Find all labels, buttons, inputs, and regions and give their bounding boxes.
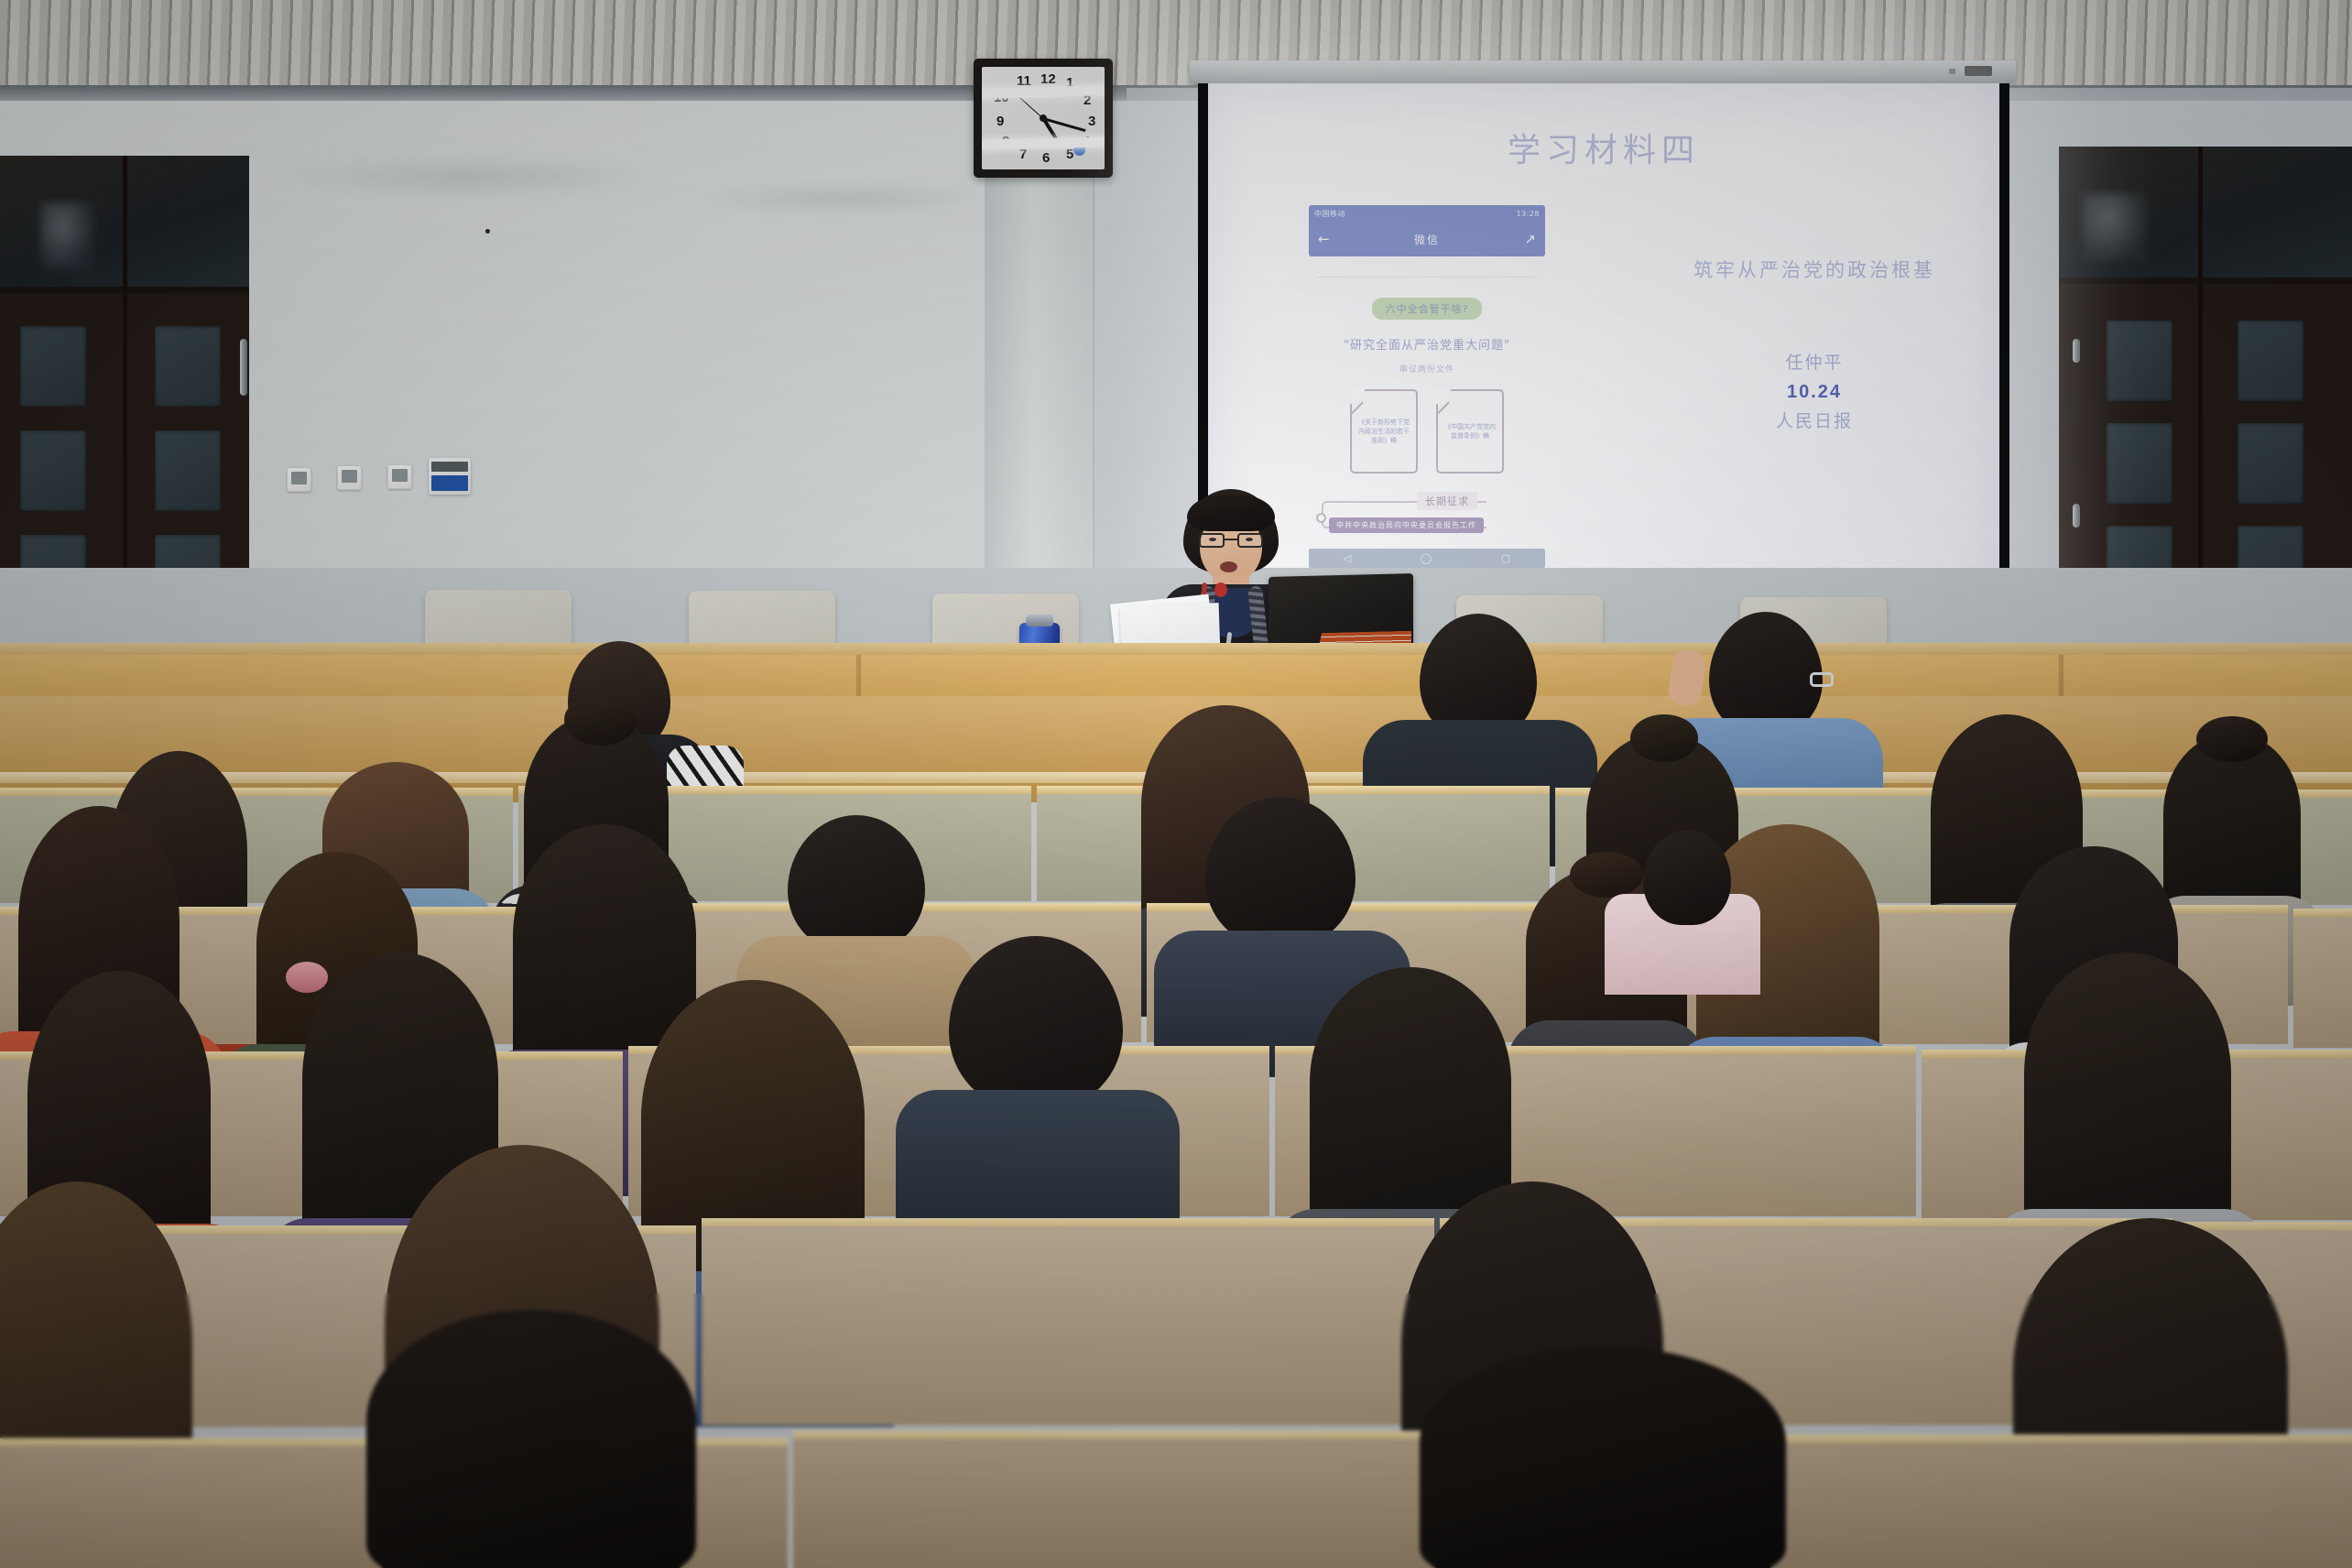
clock-numeral: 9 bbox=[996, 114, 1004, 128]
wall-smudge bbox=[696, 183, 998, 214]
door-glass-pane bbox=[155, 430, 221, 511]
phone-content: 六中全会管干啥? "研究全面从严治党重大问题" 审议两份文件 《关于新形势下党内… bbox=[1309, 277, 1545, 568]
door-glass-pane bbox=[20, 430, 86, 511]
light-switch[interactable] bbox=[337, 465, 362, 490]
hair bbox=[2024, 953, 2231, 1242]
slide-badge: 六中全会管干啥? bbox=[1372, 298, 1483, 320]
clock-face: 12 1 2 3 4 5 6 7 8 9 10 11 bbox=[982, 67, 1105, 169]
phone-clock-label: 13:28 bbox=[1516, 210, 1540, 218]
clock-numeral: 3 bbox=[1088, 114, 1095, 128]
clock-numeral: 7 bbox=[1019, 147, 1027, 161]
phone-nav-title: 微信 bbox=[1414, 232, 1440, 247]
hair bbox=[1420, 1346, 1786, 1568]
share-icon[interactable]: ↗ bbox=[1524, 231, 1536, 247]
wall-clock: 12 1 2 3 4 5 6 7 8 9 10 11 bbox=[974, 59, 1113, 178]
desk-back-panel bbox=[2293, 909, 2352, 1048]
slide-source: 人民日报 bbox=[1677, 408, 1952, 436]
screen-housing-button[interactable] bbox=[1965, 66, 1992, 76]
ac-control-panel[interactable] bbox=[429, 458, 471, 495]
door-hinge-plate bbox=[2073, 339, 2080, 363]
document-card: 《中国共产党党内监督条例》稿 bbox=[1436, 389, 1504, 474]
hair-bun bbox=[1630, 714, 1698, 762]
microphone-head bbox=[1214, 583, 1227, 597]
screen-housing-indicator bbox=[1949, 69, 1955, 74]
presenter-fringe bbox=[1187, 495, 1275, 531]
door-glass-pane bbox=[2107, 423, 2172, 504]
phone-nav-bar: ← 微信 ↗ bbox=[1309, 222, 1545, 256]
document-card-row: 《关于新形势下党内政治生活的若干准则》稿 《中国共产党党内监督条例》稿 bbox=[1309, 389, 1545, 474]
slide-right-column: 筑牢从严治党的政治根基 任仲平 10.24 人民日报 bbox=[1677, 256, 1952, 437]
phone-status-bar: 中国移动 13:28 bbox=[1309, 205, 1545, 222]
android-recents-icon[interactable]: ▢ bbox=[1501, 552, 1510, 564]
light-switch[interactable] bbox=[387, 464, 412, 489]
panel-display bbox=[431, 462, 468, 472]
door-glass-pane bbox=[20, 326, 86, 407]
slide-quote: "研究全面从严治党重大问题" bbox=[1309, 335, 1545, 353]
slide-headline: 筑牢从严治党的政治根基 bbox=[1677, 256, 1952, 283]
head bbox=[1643, 830, 1731, 925]
android-home-icon[interactable]: ◯ bbox=[1421, 552, 1432, 564]
light-switch[interactable] bbox=[287, 467, 311, 492]
presentation-slide: 学习材料四 中国移动 13:28 ← 微信 ↗ 六中全会管干啥? "研究全面从严… bbox=[1208, 83, 1999, 626]
slide-byline: 任仲平 10.24 人民日报 bbox=[1677, 349, 1952, 437]
hair-scrunchie bbox=[286, 962, 328, 993]
divider bbox=[1316, 277, 1538, 278]
hair-bun bbox=[2196, 716, 2268, 762]
hair-bun bbox=[564, 694, 637, 746]
glasses-icon bbox=[1199, 533, 1263, 548]
hair-bun bbox=[1570, 852, 1643, 898]
slide-date: 10.24 bbox=[1677, 377, 1952, 408]
document-card-label: 《关于新形势下党内政治生活的若干准则》稿 bbox=[1356, 418, 1411, 445]
door-glass-pane bbox=[155, 326, 221, 407]
wall-smudge bbox=[275, 156, 659, 198]
door-glass-pane bbox=[2238, 423, 2303, 504]
android-back-icon[interactable]: ◁ bbox=[1344, 552, 1351, 564]
door-glass-pane bbox=[2238, 321, 2303, 401]
door-glass-pane bbox=[2107, 321, 2172, 401]
phone-nav-buttons: ◁ ◯ ▢ bbox=[1309, 549, 1545, 568]
panel-label bbox=[431, 475, 468, 491]
clock-center-pin bbox=[1040, 114, 1047, 122]
slide-title: 学习材料四 bbox=[1208, 124, 1999, 171]
clock-numeral: 6 bbox=[1042, 151, 1050, 165]
door-edge-strike-left bbox=[240, 339, 247, 396]
door-transom-right bbox=[2059, 147, 2352, 284]
branch-tag-bottom: 中共中央政治局向中央委员会报告工作 bbox=[1329, 517, 1484, 533]
branch-node-dot bbox=[1316, 513, 1326, 523]
hair bbox=[366, 1310, 696, 1568]
document-card-label: 《中国共产党党内监督条例》稿 bbox=[1443, 422, 1497, 441]
door-hinge-plate bbox=[2073, 504, 2080, 528]
clock-numeral: 12 bbox=[1040, 72, 1056, 86]
branch-tag-top: 长期征求 bbox=[1417, 492, 1477, 510]
projector-screen-housing bbox=[1190, 60, 2016, 83]
clock-numeral: 11 bbox=[1017, 74, 1031, 88]
slide-branch-diagram: 长期征求 中共中央政治局向中央委员会报告工作 bbox=[1309, 494, 1545, 541]
wall-dot bbox=[485, 229, 490, 234]
slide-author: 任仲平 bbox=[1677, 349, 1952, 377]
projection-screen: 学习材料四 中国移动 13:28 ← 微信 ↗ 六中全会管干啥? "研究全面从严… bbox=[1198, 83, 2009, 636]
phone-screenshot-mock: 中国移动 13:28 ← 微信 ↗ 六中全会管干啥? "研究全面从严治党重大问题… bbox=[1309, 205, 1545, 568]
presenter-mouth bbox=[1220, 561, 1237, 572]
back-arrow-icon[interactable]: ← bbox=[1318, 231, 1330, 247]
desk-back-panel bbox=[702, 1218, 1434, 1425]
phone-carrier-label: 中国移动 bbox=[1314, 209, 1345, 219]
document-card: 《关于新形势下党内政治生活的若干准则》稿 bbox=[1350, 389, 1418, 474]
slide-subtitle: 审议两份文件 bbox=[1309, 363, 1545, 375]
lecture-hall-scene: 12 1 2 3 4 5 6 7 8 9 10 11 学习材料四 bbox=[0, 0, 2352, 1568]
glasses-icon bbox=[1810, 672, 1834, 687]
